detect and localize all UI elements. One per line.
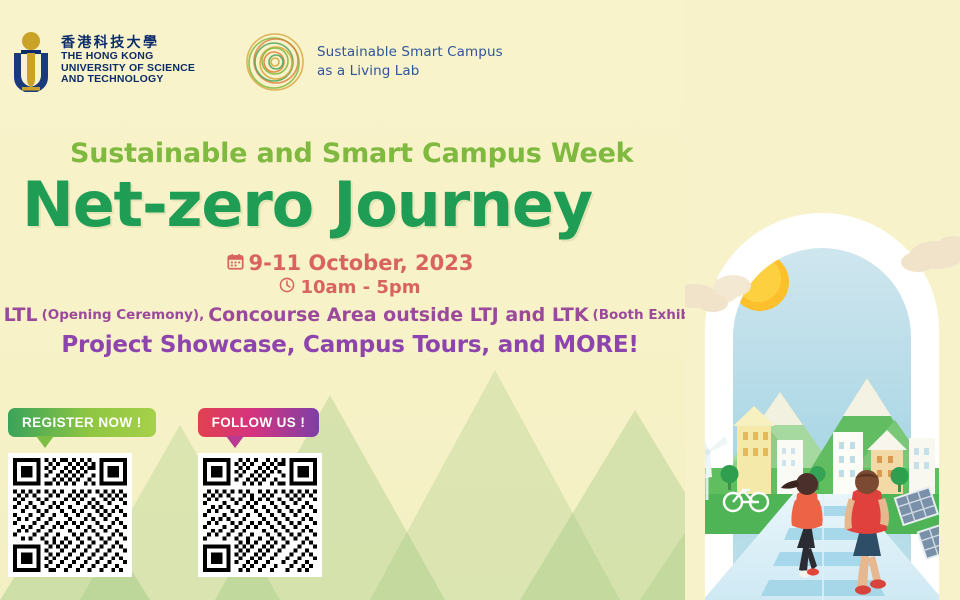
hkust-name-line3: AND TECHNOLOGY [61,74,195,86]
event-time-row: 10am - 5pm [0,276,700,299]
hkust-name-line1: THE HONG KONG [61,51,195,63]
venue-primary-note: (Opening Ceremony), [42,302,205,328]
hkust-emblem-icon [10,30,52,92]
hkust-wordmark: 香港科技大學 THE HONG KONG UNIVERSITY OF SCIEN… [61,36,195,86]
follow-us-button[interactable]: FOLLOW US ! [198,408,320,437]
register-now-button[interactable]: REGISTER NOW ! [8,408,156,437]
call-to-action-area: REGISTER NOW ! [8,408,322,577]
venue-primary: LTL [4,302,38,328]
net-zero-illustration [685,0,960,600]
event-highlights: Project Showcase, Campus Tours, and MORE… [0,330,700,360]
event-date-text: 9-11 October, 2023 [249,250,474,276]
poster-canvas: 香港科技大學 THE HONG KONG UNIVERSITY OF SCIEN… [0,0,960,600]
sustainable-smart-campus-logo: Sustainable Smart Campus as a Living Lab [245,32,503,92]
event-date-row: 9-11 October, 2023 [0,250,700,276]
poster-header: 香港科技大學 THE HONG KONG UNIVERSITY OF SCIEN… [0,0,700,120]
register-cta-block: REGISTER NOW ! [8,408,156,577]
calendar-icon [227,250,244,276]
event-main-title: Net-zero Journey [0,170,700,240]
event-venue-row: LTL (Opening Ceremony), Concourse Area o… [0,302,700,328]
follow-qr-code[interactable] [198,453,322,577]
ssc-wordmark: Sustainable Smart Campus as a Living Lab [317,43,503,81]
concentric-rings-icon [245,32,305,92]
hkust-name-chinese: 香港科技大學 [61,36,195,51]
ssc-logo-line1: Sustainable Smart Campus [317,43,503,62]
follow-cta-block: FOLLOW US ! [198,408,322,577]
title-block: Sustainable and Smart Campus Week Net-ze… [0,138,700,240]
register-qr-code[interactable] [8,453,132,577]
event-time-text: 10am - 5pm [300,276,420,299]
ssc-logo-line2: as a Living Lab [317,62,503,81]
hkust-logo: 香港科技大學 THE HONG KONG UNIVERSITY OF SCIEN… [10,30,195,92]
venue-secondary: Concourse Area outside LTJ and LTK [208,302,588,328]
clock-icon [279,276,295,299]
event-subtitle: Sustainable and Smart Campus Week [0,138,700,170]
event-info-block: 9-11 October, 2023 10am - 5pm LTL (Openi… [0,250,700,360]
